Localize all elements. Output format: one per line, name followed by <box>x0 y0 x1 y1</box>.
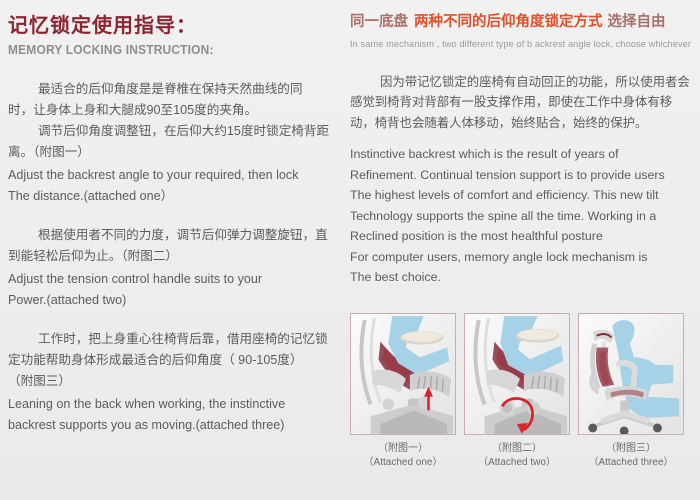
text-line: Adjust the tension control handle suits … <box>8 269 344 290</box>
text-line: For computer users, memory angle lock me… <box>350 247 694 268</box>
text-line: Refinement. Continual tension support is… <box>350 165 694 186</box>
text-line: The best choice. <box>350 267 694 288</box>
figure-1-caption: （附图一） （Attached one） <box>350 442 456 470</box>
left-section-2: 根据使用者不同的力度，调节后仰弹力调整旋钮，直 到能轻松后仰为止。（附图二） A… <box>8 225 344 311</box>
right-header-part1: 同一底盘 <box>350 14 408 30</box>
right-header-part3: 选择自由 <box>603 14 666 30</box>
text-line: 时，让身体上身和大腿成90至105度的夹角。 <box>8 100 344 121</box>
figure-1: （附图一） （Attached one） <box>350 313 456 470</box>
text-line: 工作时，把上身重心往椅背后靠，借用座椅的记忆锁 <box>8 329 344 350</box>
figure-2-caption: （附图二） （Attached two） <box>464 442 570 470</box>
text-line: The distance.(attached one） <box>8 186 344 207</box>
text-line: 根据使用者不同的力度，调节后仰弹力调整旋钮，直 <box>8 225 344 246</box>
text-line: The highest levels of comfort and effici… <box>350 185 694 206</box>
text-line: 调节后仰角度调整钮，在后仰大约15度时锁定椅背距 <box>8 121 344 142</box>
text-line: Technology supports the spine all the ti… <box>350 206 694 227</box>
spacer <box>8 311 344 329</box>
figure-3: （附图三） （Attached three） <box>578 313 684 470</box>
caption-cn: （附图二） <box>492 443 542 454</box>
caption-cn: （附图三） <box>606 443 656 454</box>
spacer <box>8 57 344 79</box>
figure-1-frame <box>350 313 456 435</box>
caption-en: （Attached two） <box>464 456 570 470</box>
figure-2-frame <box>464 313 570 435</box>
figure-strip: （附图一） （Attached one） <box>350 313 696 470</box>
left-section-2-cn: 根据使用者不同的力度，调节后仰弹力调整旋钮，直 到能轻松后仰为止。（附图二） <box>8 225 344 267</box>
left-column: 记忆锁定使用指导： MEMORY LOCKING INSTRUCTION: 最适… <box>8 0 344 436</box>
text-line: 动，椅背也会随着人体移动，始终贴合，始终的保护。 <box>350 113 694 134</box>
text-line: （附图三） <box>8 371 344 392</box>
figure-2: （附图二） （Attached two） <box>464 313 570 470</box>
right-header-part2: 两种不同的后仰角度锁定方式 <box>408 14 603 30</box>
caption-en: （Attached one） <box>350 456 456 470</box>
text-line: 因为带记忆锁定的座椅有自动回正的功能，所以使用者会 <box>350 72 694 93</box>
right-header-en: In same mechanism , two different type o… <box>350 39 684 50</box>
spacer <box>350 50 694 72</box>
figure-3-caption: （附图三） （Attached three） <box>578 442 684 470</box>
text-line: 最适合的后仰角度是是脊椎在保持天然曲线的同 <box>8 79 344 100</box>
text-line: Adjust the backrest angle to your requir… <box>8 165 344 186</box>
right-header: 同一底盘两种不同的后仰角度锁定方式选择自由 <box>350 13 694 32</box>
text-line: Leaning on the back when working, the in… <box>8 394 344 415</box>
text-line: 感觉到椅背对背部有一股支撑作用，即使在工作中身体有移 <box>350 92 694 113</box>
spacer <box>8 207 344 225</box>
left-section-3-en: Leaning on the back when working, the in… <box>8 394 344 436</box>
page-title-cn: 记忆锁定使用指导： <box>8 14 344 38</box>
text-line: 定功能帮助身体形成最适合的后仰角度（ 90-105度） <box>8 350 344 371</box>
text-line: Reclined position is the most healthful … <box>350 226 694 247</box>
instruction-poster: 记忆锁定使用指导： MEMORY LOCKING INSTRUCTION: 最适… <box>0 0 700 500</box>
text-line: backrest supports you as moving.(attache… <box>8 415 344 436</box>
text-line: Power.(attached two) <box>8 290 344 311</box>
left-section-3: 工作时，把上身重心往椅背后靠，借用座椅的记忆锁 定功能帮助身体形成最适合的后仰角… <box>8 329 344 436</box>
right-column: 同一底盘两种不同的后仰角度锁定方式选择自由 In same mechanism … <box>350 0 694 288</box>
caption-en: （Attached three） <box>578 456 684 470</box>
caption-cn: （附图一） <box>378 443 428 454</box>
text-line: 离。（附图一） <box>8 142 344 163</box>
text-line: Instinctive backrest which is the result… <box>350 144 694 165</box>
chair-side-view-seated-posture-photo <box>579 314 683 434</box>
left-section-1: 最适合的后仰角度是是脊椎在保持天然曲线的同 时，让身体上身和大腿成90至105度… <box>8 79 344 207</box>
page-title-en: MEMORY LOCKING INSTRUCTION: <box>8 42 317 57</box>
left-section-3-cn: 工作时，把上身重心往椅背后靠，借用座椅的记忆锁 定功能帮助身体形成最适合的后仰角… <box>8 329 344 392</box>
right-body-cn: 因为带记忆锁定的座椅有自动回正的功能，所以使用者会 感觉到椅背对背部有一股支撑作… <box>350 72 694 134</box>
left-section-2-en: Adjust the tension control handle suits … <box>8 269 344 311</box>
figure-3-frame <box>578 313 684 435</box>
left-section-1-cn: 最适合的后仰角度是是脊椎在保持天然曲线的同 时，让身体上身和大腿成90至105度… <box>8 79 344 163</box>
left-section-1-en: Adjust the backrest angle to your requir… <box>8 165 344 207</box>
chair-mechanism-tilt-lock-photo <box>351 314 455 434</box>
chair-mechanism-tension-knob-photo <box>465 314 569 434</box>
spacer <box>350 133 694 142</box>
right-body-en: Instinctive backrest which is the result… <box>350 144 694 288</box>
text-line: 到能轻松后仰为止。（附图二） <box>8 246 344 267</box>
